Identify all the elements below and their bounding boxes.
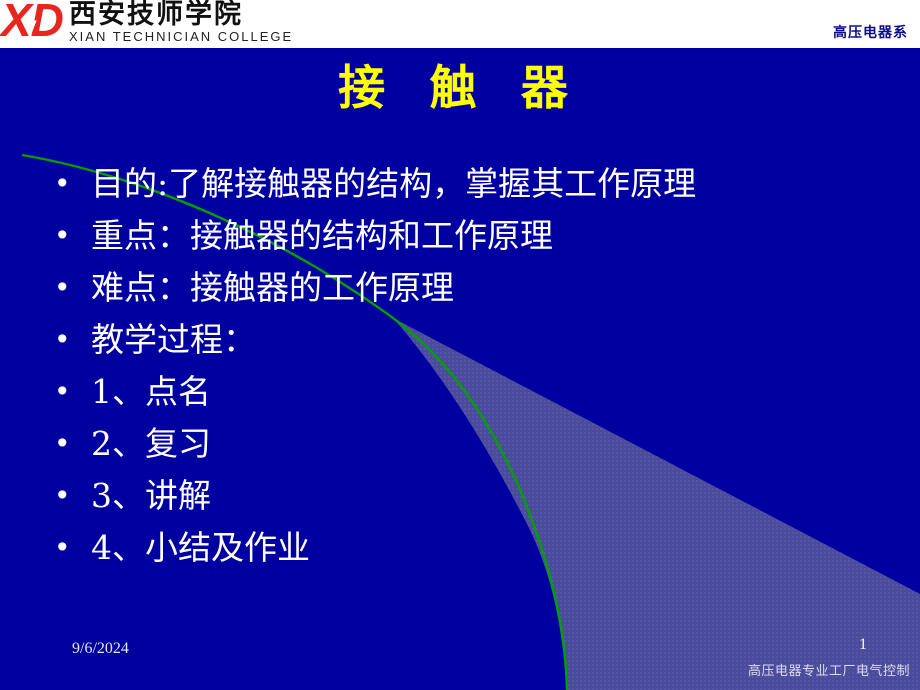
presentation-slide: XD 西安技师学院 XIAN TECHNICIAN COLLEGE 高压电器系 …: [0, 0, 920, 690]
slide-title: 接 触 器: [0, 60, 920, 118]
list-item: 教学过程：: [46, 314, 886, 366]
list-item: 4、小结及作业: [46, 522, 886, 574]
footer-page-number: 1: [859, 636, 867, 654]
school-name-cn: 西安技师学院: [69, 0, 243, 30]
school-logo: XD 西安技师学院 XIAN TECHNICIAN COLLEGE: [0, 0, 293, 48]
list-item: 2、复习: [46, 418, 886, 470]
header-band: XD 西安技师学院 XIAN TECHNICIAN COLLEGE 高压电器系: [0, 0, 920, 48]
list-item: 难点：接触器的工作原理: [46, 262, 886, 314]
xd-logo-icon: XD: [1, 1, 63, 45]
footer-date: 9/6/2024: [72, 640, 129, 658]
school-name-en: XIAN TECHNICIAN COLLEGE: [69, 29, 293, 44]
school-name-block: 西安技师学院 XIAN TECHNICIAN COLLEGE: [69, 0, 293, 44]
list-item: 1、点名: [46, 366, 886, 418]
footer-note: 高压电器专业工厂电气控制: [748, 660, 910, 679]
list-item: 目的:了解接触器的结构，掌握其工作原理: [46, 158, 886, 210]
bullet-list: 目的:了解接触器的结构，掌握其工作原理 重点：接触器的结构和工作原理 难点：接触…: [46, 158, 886, 574]
department-label: 高压电器系: [833, 22, 908, 42]
list-item: 3、讲解: [46, 470, 886, 522]
list-item: 重点：接触器的结构和工作原理: [46, 210, 886, 262]
